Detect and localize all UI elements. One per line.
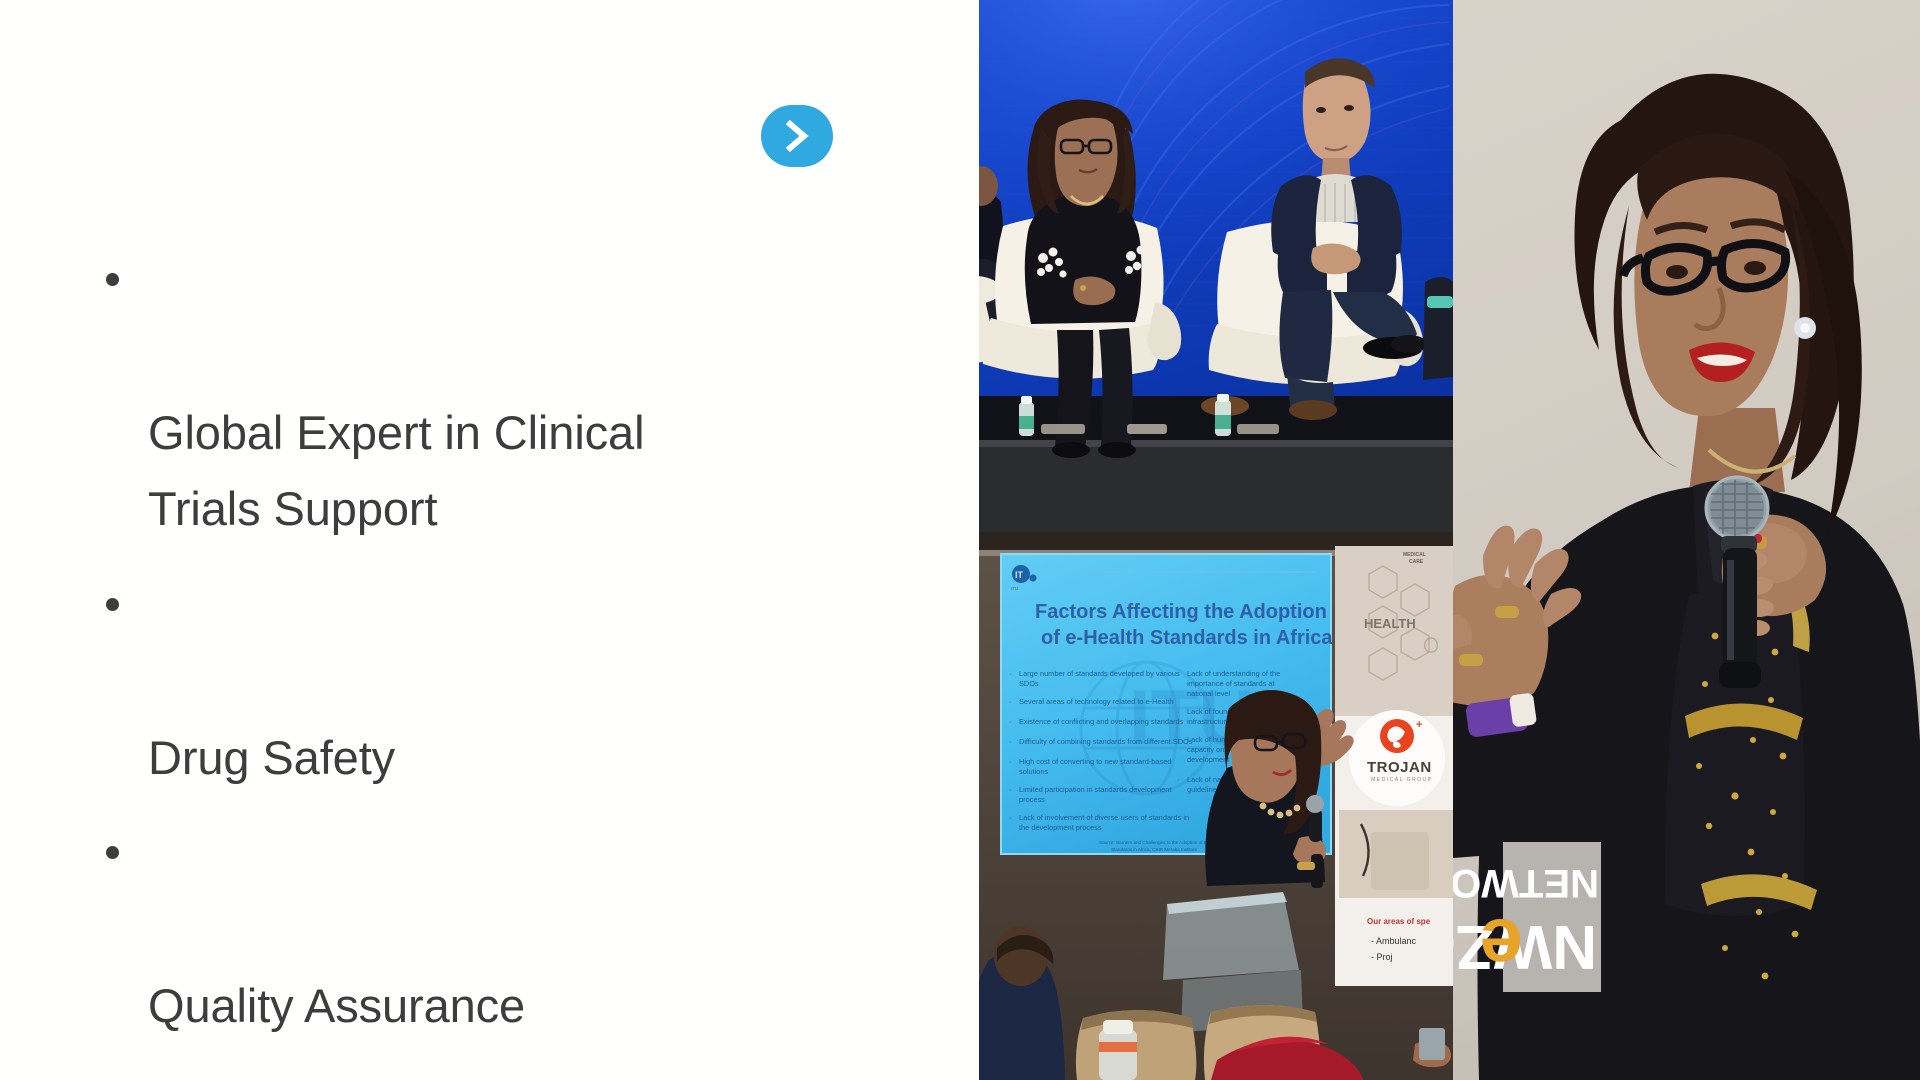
svg-text:development: development: [1187, 755, 1229, 764]
svg-text:·: ·: [1009, 669, 1011, 678]
svg-text:Existence of conflicting and o: Existence of conflicting and overlapping…: [1019, 717, 1184, 726]
banner-brand: TROJAN: [1367, 759, 1432, 776]
bullet-label: Drug Safety: [148, 731, 395, 784]
slide-title-line-2: of e-Health Standards in Africa: [1041, 627, 1333, 649]
photo-collage: ITU IT ITU Factors Affecting the Adoptio…: [979, 0, 1920, 1080]
svg-text:·: ·: [1009, 737, 1011, 746]
svg-text:·: ·: [1177, 669, 1179, 678]
list-item: Global Expert in Clinical Trials Support: [96, 243, 906, 548]
svg-text:·: ·: [1009, 697, 1011, 706]
slide-title-line-1: Factors Affecting the Adoption: [1035, 601, 1327, 623]
svg-text:Several areas of technology re: Several areas of technology related to e…: [1019, 697, 1173, 706]
bullet-label: Quality Assurance: [148, 979, 525, 1032]
expertise-bullet-list: Global Expert in Clinical Trials Support…: [96, 243, 906, 1080]
svg-text:High cost of converting to new: High cost of converting to new standard-…: [1019, 757, 1171, 766]
svg-text:Lack of understanding of the: Lack of understanding of the: [1187, 669, 1280, 678]
svg-text:·: ·: [1177, 775, 1179, 784]
svg-text:CARE: CARE: [1409, 559, 1424, 565]
presentation-podium-illustration: ITU IT ITU Factors Affecting the Adoptio…: [979, 532, 1453, 1080]
finger-ring: [1495, 606, 1519, 618]
slide-canvas: Global Expert in Clinical Trials Support…: [0, 0, 1920, 1080]
photo-column-left: ITU IT ITU Factors Affecting the Adoptio…: [979, 0, 1453, 1080]
bullet-dot-icon: [106, 598, 119, 611]
svg-text:infrastructure: infrastructure: [1187, 717, 1230, 726]
svg-text:SDOs: SDOs: [1019, 679, 1039, 688]
list-item: Drug Safety: [96, 568, 906, 796]
conference-panel-illustration: [979, 0, 1453, 532]
chevron-right-icon: [782, 119, 812, 153]
next-slide-button[interactable]: [761, 105, 833, 167]
svg-text:importance of standards at: importance of standards at: [1187, 679, 1275, 688]
list-item: Healthcare Performance: [96, 1064, 906, 1080]
bullet-dot-icon: [106, 846, 119, 859]
svg-text:·: ·: [1009, 813, 1011, 822]
banner-item: - Proj: [1371, 952, 1393, 962]
svg-text:process: process: [1019, 795, 1045, 804]
bullet-dot-icon: [106, 273, 119, 286]
slide-source-note: Source: Barriers and Challenges to the A…: [1099, 840, 1222, 845]
svg-text:+: +: [1416, 719, 1422, 731]
water-bottle: [1099, 1020, 1137, 1080]
banner-heading: Our areas of spe: [1367, 917, 1431, 926]
svg-text:·: ·: [1177, 735, 1179, 744]
svg-text:Standards in Africa, CSIR Mera: Standards in Africa, CSIR Meraka Institu…: [1111, 847, 1197, 852]
svg-text:·: ·: [1009, 785, 1011, 794]
svg-text:·: ·: [1177, 707, 1179, 716]
svg-text:IT: IT: [1015, 570, 1024, 580]
svg-text:Limited participation in stand: Limited participation in standards devel…: [1019, 785, 1171, 794]
finger-ring: [1459, 654, 1483, 666]
svg-text:the development process: the development process: [1019, 823, 1102, 832]
svg-text:MEDICAL: MEDICAL: [1403, 552, 1426, 558]
svg-text:·: ·: [1009, 717, 1011, 726]
water-bottle: [1019, 396, 1034, 436]
banner-hex-label: HEALTH: [1364, 616, 1416, 631]
bullet-label: Global Expert in Clinical Trials Support: [148, 406, 644, 535]
svg-text:·: ·: [1009, 757, 1011, 766]
svg-text:ITU: ITU: [1011, 586, 1018, 591]
svg-text:Large number of standards deve: Large number of standards developed by v…: [1019, 669, 1180, 678]
keynote-speaker-photo: NWZe NETWO e: [1453, 0, 1920, 1080]
banner-item: - Ambulanc: [1371, 936, 1417, 946]
banner-brand-sub: MEDICAL GROUP: [1371, 777, 1433, 783]
keynote-speaker-illustration: [1453, 0, 1920, 1080]
svg-text:Difficulty of combining standa: Difficulty of combining standards from d…: [1019, 737, 1193, 746]
conference-panel-photo: [979, 0, 1453, 532]
svg-text:solutions: solutions: [1019, 767, 1048, 776]
trojan-banner: MEDICAL CARE HEALTH +: [1335, 546, 1453, 986]
list-item: Quality Assurance: [96, 816, 906, 1044]
presentation-podium-photo: ITU IT ITU Factors Affecting the Adoptio…: [979, 532, 1453, 1080]
svg-text:Lack of involvement of diverse: Lack of involvement of diverse users of …: [1019, 813, 1189, 822]
svg-text:national level: national level: [1187, 689, 1231, 698]
water-bottle: [1215, 394, 1231, 436]
content-panel: Global Expert in Clinical Trials Support…: [0, 0, 979, 1080]
